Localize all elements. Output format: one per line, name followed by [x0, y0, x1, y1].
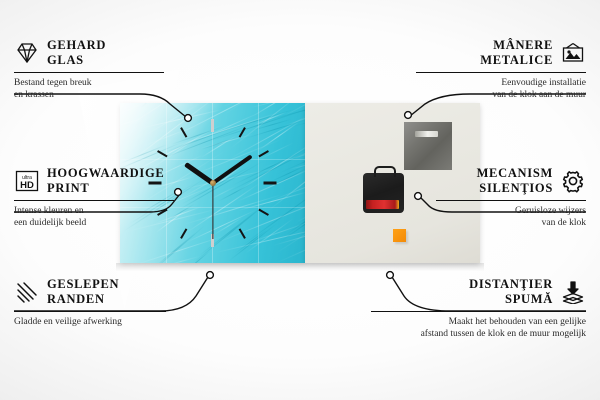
- callout-sub-line2: een duidelijk beeld: [14, 217, 174, 229]
- clock-tick: [238, 228, 245, 239]
- callout-header: ultra HD HOOGWAARDIGE PRINT: [14, 166, 174, 196]
- callout-sub-line2: en krassen: [14, 89, 164, 101]
- callout-foam-spacer: DISTANŢIER SPUMĂ Maakt het behouden van …: [371, 277, 586, 340]
- product-shadow: [116, 263, 484, 275]
- svg-text:HD: HD: [20, 180, 34, 191]
- callout-ground-edges: GESLEPEN RANDEN Gladde en veilige afwerk…: [14, 277, 166, 328]
- hands-center-cap: [210, 180, 216, 186]
- clock-tick: [180, 127, 187, 138]
- callout-divider: [371, 311, 586, 312]
- diagonal-lines-icon: [14, 280, 40, 304]
- callout-header: GEHARD GLAS: [14, 38, 164, 68]
- callout-title: HOOGWAARDIGE PRINT: [47, 166, 164, 196]
- foam-spacer-pad: [393, 229, 406, 242]
- clock-tick: [211, 119, 214, 132]
- callout-title: DISTANŢIER SPUMĂ: [469, 277, 553, 307]
- callout-sub-line2: van de klok: [436, 217, 586, 229]
- callout-tempered-glass: GEHARD GLAS Bestand tegen breuk en krass…: [14, 38, 164, 101]
- callout-divider: [14, 72, 164, 73]
- clock-tick: [157, 150, 168, 157]
- clock-tick: [258, 209, 269, 216]
- gear-icon: [560, 169, 586, 193]
- infographic-stage: GEHARD GLAS Bestand tegen breuk en krass…: [0, 0, 600, 400]
- ultra-hd-icon: ultra HD: [14, 169, 40, 193]
- callout-divider: [436, 200, 586, 201]
- callout-sub-line2: afstand tussen de klok en de muur mogeli…: [371, 328, 586, 340]
- clock-tick: [238, 127, 245, 138]
- callout-header: DISTANŢIER SPUMĂ: [371, 277, 586, 307]
- callout-title: GESLEPEN RANDEN: [47, 277, 119, 307]
- clock-tick: [180, 228, 187, 239]
- callout-header: MECANISM SILENŢIOS: [436, 166, 586, 196]
- picture-frame-icon: [560, 41, 586, 65]
- callout-sub-line1: Intense kleuren en: [14, 205, 174, 217]
- callout-sub-line1: Gladde en veilige afwerking: [14, 316, 166, 328]
- callout-sub-line1: Eenvoudige installatie: [416, 77, 586, 89]
- callout-divider: [416, 72, 586, 73]
- callout-sub-line1: Maakt het behouden van een gelijke: [371, 316, 586, 328]
- product-photo: [120, 103, 480, 275]
- callout-sub-line1: Geruisloze wijzers: [436, 205, 586, 217]
- callout-header: GESLEPEN RANDEN: [14, 277, 166, 307]
- callout-title: GEHARD GLAS: [47, 38, 106, 68]
- clock-mechanism-box: [363, 173, 404, 213]
- metal-hanger-plate: [404, 122, 452, 170]
- callout-title: MÂNERE METALICE: [480, 38, 553, 68]
- callout-header: MÂNERE METALICE: [416, 38, 586, 68]
- clock-tick: [264, 182, 277, 185]
- clock-tick: [258, 150, 269, 157]
- callout-sub-line1: Bestand tegen breuk: [14, 77, 164, 89]
- callout-hd-print: ultra HD HOOGWAARDIGE PRINT Intense kleu…: [14, 166, 174, 229]
- callout-title: MECANISM SILENŢIOS: [477, 166, 553, 196]
- callout-divider: [14, 200, 174, 201]
- callout-metal-handles: MÂNERE METALICE Eenvoudige installatie v…: [416, 38, 586, 101]
- battery: [366, 200, 399, 209]
- diamond-icon: [14, 41, 40, 65]
- arrow-into-layers-icon: [560, 280, 586, 304]
- second-hand: [212, 183, 213, 239]
- callout-sub-line2: van de klok aan de muur: [416, 89, 586, 101]
- callout-divider: [14, 311, 166, 312]
- callout-silent-mechanism: MECANISM SILENŢIOS Geruisloze wijzers va…: [436, 166, 586, 229]
